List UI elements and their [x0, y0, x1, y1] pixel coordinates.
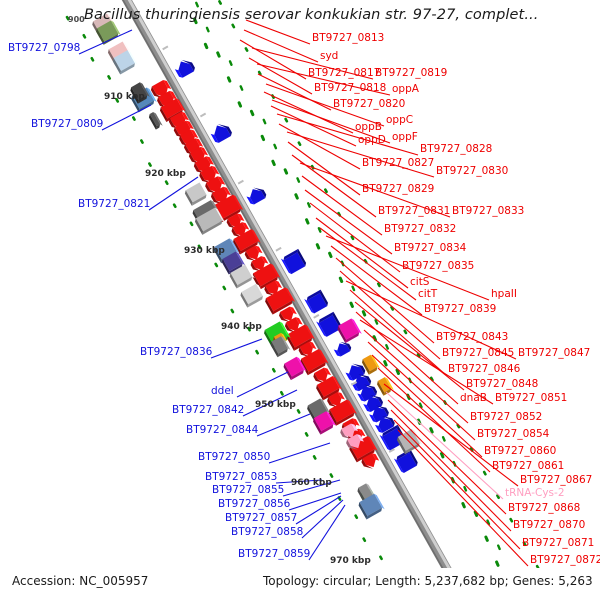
- leader-line: [246, 20, 310, 44]
- gene-label[interactable]: BT9727_0861: [492, 461, 564, 472]
- gene-label[interactable]: BT9727_0851: [495, 393, 567, 404]
- gene-label[interactable]: BT9727_0856: [218, 499, 290, 510]
- gene-label[interactable]: BT9727_0868: [508, 503, 580, 514]
- leader-line: [79, 30, 132, 54]
- ruler-tick-label: 910 kbp: [104, 92, 145, 102]
- gene-label[interactable]: BT9727_0871: [522, 538, 594, 549]
- gene-label[interactable]: BT9727_0798: [8, 43, 80, 54]
- leader-line: [269, 443, 330, 463]
- ruler-tick-label: 900: [68, 15, 85, 24]
- gene-label[interactable]: hpaII: [491, 289, 517, 300]
- gene-label[interactable]: BT9727_0832: [384, 224, 456, 235]
- gene-label[interactable]: syd: [320, 51, 338, 62]
- gene-label[interactable]: BT9727_0867: [520, 475, 592, 486]
- leader-line: [364, 330, 468, 423]
- leader-line: [244, 30, 318, 62]
- topology-text: Topology: circular; Length: 5,237,682 bp…: [263, 574, 593, 588]
- gene-label[interactable]: BT9727_0836: [140, 347, 212, 358]
- gene-label[interactable]: BT9727_0860: [484, 446, 556, 457]
- gene-label[interactable]: dnaB: [460, 393, 487, 404]
- gene-label[interactable]: BT9727_0817: [308, 68, 380, 79]
- gene-label[interactable]: BT9727_0858: [231, 527, 303, 538]
- gene-label[interactable]: BT9727_0821: [78, 199, 150, 210]
- gene-label[interactable]: BT9727_0831: [378, 206, 450, 217]
- gene-label[interactable]: BT9727_0845: [442, 348, 514, 359]
- gene-label[interactable]: BT9727_0855: [212, 485, 284, 496]
- gene-label[interactable]: BT9727_0828: [420, 144, 492, 155]
- leader-line: [149, 177, 198, 210]
- gene-label[interactable]: BT9727_0844: [186, 425, 258, 436]
- gene-label[interactable]: BT9727_0809: [31, 119, 103, 130]
- gene-label[interactable]: BT9727_0818: [314, 83, 386, 94]
- leader-line: [288, 142, 360, 195]
- gene-label[interactable]: BT9727_0857: [225, 513, 297, 524]
- gene-label[interactable]: oppD: [358, 135, 386, 146]
- gene-label[interactable]: BT9727_0846: [448, 364, 520, 375]
- genome-viewer: Bacillus thuringiensis serovar konkukian…: [0, 0, 600, 600]
- gene-label[interactable]: oppA: [392, 84, 419, 95]
- gene-label[interactable]: BT9727_0842: [172, 405, 244, 416]
- gene-label[interactable]: BT9727_0847: [518, 348, 590, 359]
- gene-label[interactable]: BT9727_0848: [466, 379, 538, 390]
- gene-label[interactable]: BT9727_0833: [452, 206, 524, 217]
- leader-line: [257, 414, 310, 436]
- accession-text: Accession: NC_005957: [12, 574, 148, 588]
- gene-label[interactable]: citT: [418, 289, 437, 300]
- gene-label[interactable]: BT9727_0853: [205, 472, 277, 483]
- gene-label[interactable]: BT9727_0834: [394, 243, 466, 254]
- gene-label[interactable]: ddel: [211, 386, 234, 397]
- gene-label[interactable]: BT9727_0835: [402, 261, 474, 272]
- ruler-tick-label: 930 kbp: [184, 246, 225, 256]
- gene-label[interactable]: oppF: [392, 132, 418, 143]
- gene-label[interactable]: citS: [410, 277, 429, 288]
- leader-line: [102, 105, 151, 130]
- status-bar: Accession: NC_005957 Topology: circular;…: [0, 568, 600, 600]
- gene-label[interactable]: oppB: [355, 122, 382, 133]
- leader-line: [211, 339, 262, 358]
- gene-label[interactable]: BT9727_0829: [362, 184, 434, 195]
- ruler-tick-label: 960 kbp: [291, 478, 332, 488]
- gene-label[interactable]: BT9727_0852: [470, 412, 542, 423]
- gene-label[interactable]: tRNA-Cys-2: [505, 488, 565, 499]
- ruler-tick-label: 920 kbp: [145, 169, 186, 179]
- gene-label[interactable]: BT9727_0813: [312, 33, 384, 44]
- gene-label[interactable]: oppC: [386, 115, 413, 126]
- leader-line: [302, 500, 343, 538]
- gene-label[interactable]: BT9727_0843: [436, 332, 508, 343]
- ruler-tick-label: 970 kbp: [330, 556, 371, 566]
- gene-label[interactable]: BT9727_0830: [436, 166, 508, 177]
- gene-label[interactable]: BT9727_0854: [477, 429, 549, 440]
- gene-label[interactable]: BT9727_0859: [238, 549, 310, 560]
- gene-label[interactable]: BT9727_0839: [424, 304, 496, 315]
- gene-label[interactable]: BT9727_0872: [530, 555, 600, 566]
- gene-label[interactable]: BT9727_0820: [333, 99, 405, 110]
- leader-line: [355, 302, 464, 390]
- gene-label[interactable]: BT9727_0870: [513, 520, 585, 531]
- ruler-tick-label: 940 kbp: [221, 322, 262, 332]
- leader-line: [237, 372, 288, 397]
- gene-label[interactable]: BT9727_0850: [198, 452, 270, 463]
- leader-line: [309, 505, 345, 560]
- gene-label[interactable]: BT9727_0819: [375, 68, 447, 79]
- gene-label[interactable]: BT9727_0827: [362, 158, 434, 169]
- page-title: Bacillus thuringiensis serovar konkukian…: [84, 7, 538, 23]
- ruler-tick-label: 950 kbp: [255, 400, 296, 410]
